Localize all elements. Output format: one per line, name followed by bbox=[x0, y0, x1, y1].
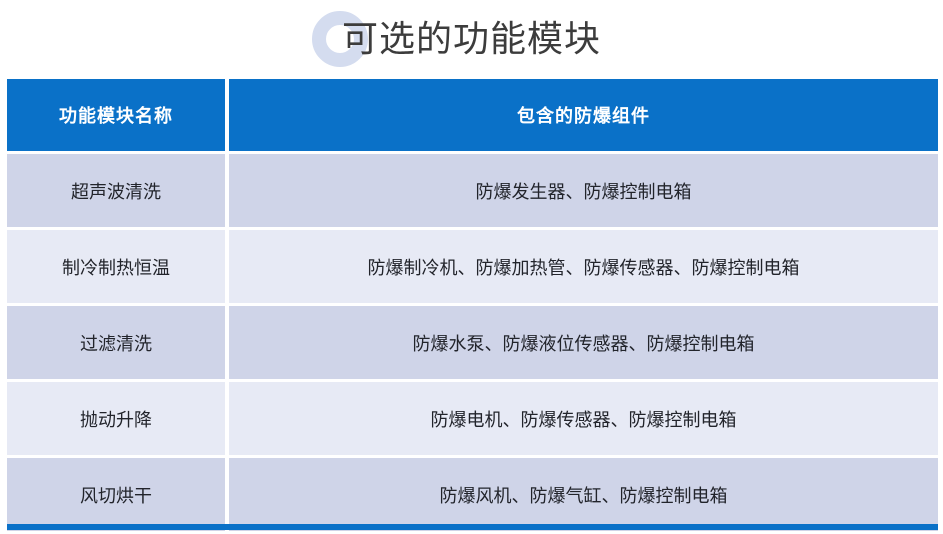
cell-components: 防爆发生器、防爆控制电箱 bbox=[229, 154, 938, 227]
page-title: 可选的功能模块 bbox=[342, 18, 601, 59]
header-cell-module-name: 功能模块名称 bbox=[7, 79, 225, 151]
slide-page: 可选的功能模块 功能模块名称 包含的防爆组件 超声波清洗 防爆发生器、防爆控制电… bbox=[0, 0, 943, 534]
module-table: 功能模块名称 包含的防爆组件 超声波清洗 防爆发生器、防爆控制电箱 制冷制热恒温… bbox=[7, 79, 938, 534]
cell-components: 防爆水泵、防爆液位传感器、防爆控制电箱 bbox=[229, 306, 938, 379]
table-row[interactable]: 超声波清洗 防爆发生器、防爆控制电箱 bbox=[7, 154, 938, 227]
cell-components: 防爆风机、防爆气缸、防爆控制电箱 bbox=[229, 458, 938, 531]
table-row[interactable]: 过滤清洗 防爆水泵、防爆液位传感器、防爆控制电箱 bbox=[7, 306, 938, 379]
cell-components: 防爆电机、防爆传感器、防爆控制电箱 bbox=[229, 382, 938, 455]
table-bottom-accent-bar bbox=[7, 524, 938, 530]
cell-module-name: 过滤清洗 bbox=[7, 306, 225, 379]
cell-module-name: 制冷制热恒温 bbox=[7, 230, 225, 303]
header-cell-components: 包含的防爆组件 bbox=[229, 79, 938, 151]
cell-module-name: 抛动升降 bbox=[7, 382, 225, 455]
cell-module-name: 超声波清洗 bbox=[7, 154, 225, 227]
table-body: 功能模块名称 包含的防爆组件 超声波清洗 防爆发生器、防爆控制电箱 制冷制热恒温… bbox=[7, 79, 938, 534]
table-header-row: 功能模块名称 包含的防爆组件 bbox=[7, 79, 938, 151]
table-row[interactable]: 制冷制热恒温 防爆制冷机、防爆加热管、防爆传感器、防爆控制电箱 bbox=[7, 230, 938, 303]
cell-components: 防爆制冷机、防爆加热管、防爆传感器、防爆控制电箱 bbox=[229, 230, 938, 303]
title-wrap: 可选的功能模块 bbox=[342, 21, 601, 57]
title-area: 可选的功能模块 bbox=[0, 0, 943, 78]
table-row[interactable]: 抛动升降 防爆电机、防爆传感器、防爆控制电箱 bbox=[7, 382, 938, 455]
cell-module-name: 风切烘干 bbox=[7, 458, 225, 531]
table-row[interactable]: 风切烘干 防爆风机、防爆气缸、防爆控制电箱 bbox=[7, 458, 938, 531]
